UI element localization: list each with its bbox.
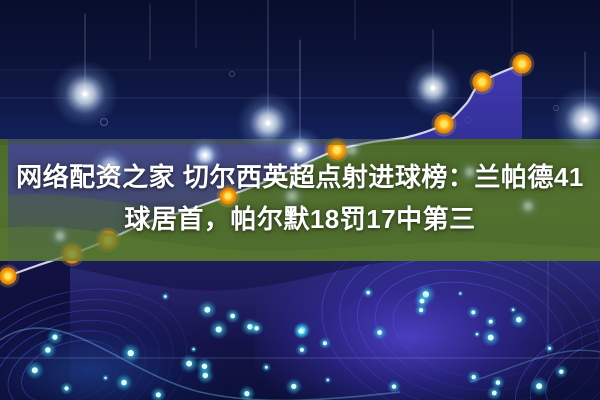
cyan-dot xyxy=(193,348,195,350)
headline-line-2: 球居首，帕尔默18罚17中第三 xyxy=(0,198,600,240)
cyan-dot xyxy=(45,347,51,353)
cyan-dot xyxy=(204,307,210,313)
cyan-dot xyxy=(489,320,493,324)
cyan-dot xyxy=(156,392,161,397)
cyan-dot xyxy=(230,314,235,319)
glow-point-core xyxy=(583,118,587,122)
cyan-dot xyxy=(64,386,68,390)
cyan-dot xyxy=(377,330,382,335)
cyan-dot xyxy=(323,341,327,345)
news-thumbnail-image: 网络配资之家 切尔西英超点射进球榜：兰帕德41 球居首，帕尔默18罚17中第三 xyxy=(0,0,600,400)
glow-point-core xyxy=(298,148,302,152)
cyan-dot xyxy=(291,384,296,389)
cyan-dot xyxy=(392,384,396,388)
cyan-dot xyxy=(244,391,249,396)
cyan-dot xyxy=(327,379,329,381)
glow-point-core xyxy=(83,92,87,96)
cyan-dot xyxy=(496,380,501,385)
headline: 网络配资之家 切尔西英超点射进球榜：兰帕德41 球居首，帕尔默18罚17中第三 xyxy=(0,156,600,240)
glow-point-core xyxy=(431,86,435,90)
cyan-dot xyxy=(419,308,423,312)
cyan-dot xyxy=(186,361,192,367)
cyan-dot xyxy=(548,347,551,350)
cyan-dot xyxy=(492,391,497,396)
cyan-dot xyxy=(300,348,304,352)
cyan-dot xyxy=(121,380,127,386)
cyan-dot xyxy=(472,375,476,379)
glow-point-core xyxy=(266,121,270,125)
cyan-dot xyxy=(216,326,222,332)
cyan-dot xyxy=(559,370,563,374)
cyan-dot xyxy=(265,366,268,369)
glow-point xyxy=(551,86,600,154)
cyan-dot xyxy=(32,367,38,373)
cyan-dot xyxy=(52,335,57,340)
cyan-dot xyxy=(164,295,167,298)
headline-line-1: 网络配资之家 切尔西英超点射进球榜：兰帕德41 xyxy=(0,156,600,198)
cyan-dot xyxy=(128,350,134,356)
cyan-dot xyxy=(516,317,522,323)
cyan-dot xyxy=(512,309,514,311)
cyan-dot xyxy=(104,377,106,379)
cyan-dot xyxy=(366,291,370,295)
cyan-dot xyxy=(536,383,542,389)
cyan-dot xyxy=(476,333,478,335)
cyan-dot xyxy=(488,335,494,341)
cyan-dot xyxy=(471,310,475,314)
cyan-dot xyxy=(202,364,208,370)
cyan-dot xyxy=(298,329,303,334)
cyan-dot xyxy=(254,326,259,331)
cyan-dot xyxy=(459,293,461,295)
cyan-dot xyxy=(420,299,425,304)
